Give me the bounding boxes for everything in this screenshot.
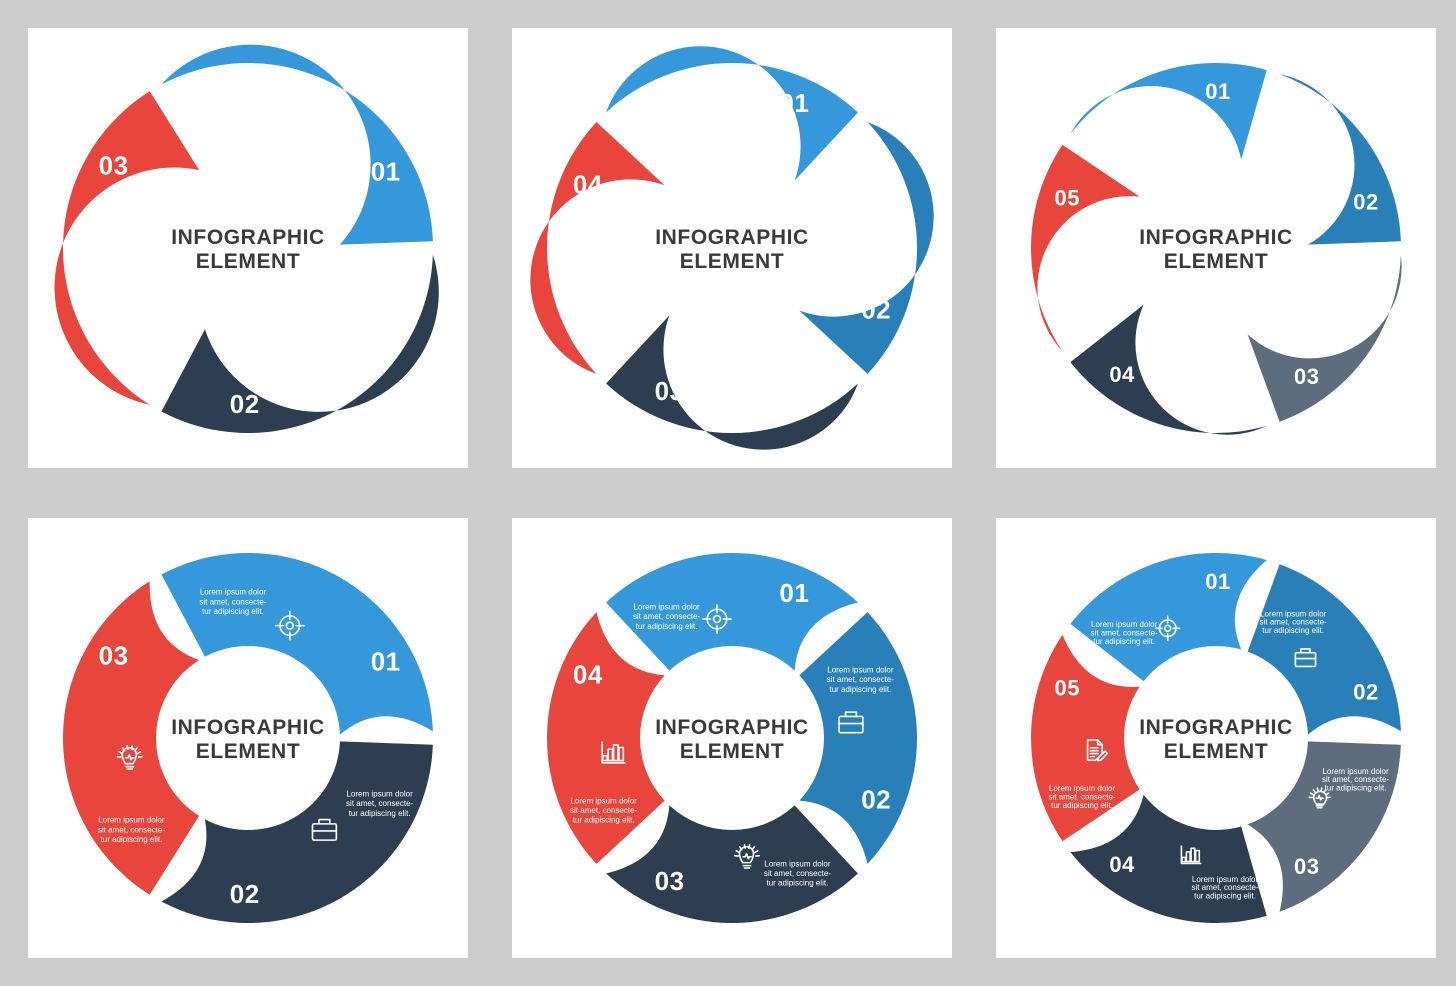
- panel-5: 01Lorem ipsum dolorsit amet, consecte-tu…: [512, 518, 952, 958]
- segment-05[interactable]: 05Lorem ipsum dolorsit amet, consecte-tu…: [1031, 635, 1140, 841]
- donut-chart-panel-6: 01Lorem ipsum dolorsit amet, consecte-tu…: [996, 518, 1436, 958]
- segment-body-text: Lorem ipsum dolorsit amet, consecte-tur …: [98, 326, 165, 354]
- segment-number: 04: [573, 170, 603, 200]
- segment-number: 03: [1294, 364, 1319, 389]
- briefcase-icon: [839, 222, 863, 243]
- segment-shape-05[interactable]: [1031, 145, 1140, 351]
- segment-number: 01: [1205, 79, 1230, 104]
- bar-chart-icon: [602, 252, 625, 273]
- segment-body-text: Lorem ipsum dolorsit amet, consecte-tur …: [346, 790, 413, 818]
- center-title-line2: ELEMENT: [1164, 740, 1269, 763]
- crosshair-icon: [1156, 126, 1180, 150]
- center-title-line2: ELEMENT: [196, 740, 301, 763]
- segment-body-text: Lorem ipsum dolorsit amet, consecte-tur …: [1260, 119, 1327, 145]
- segment-number: 02: [1353, 679, 1378, 704]
- segment-number: 02: [861, 294, 891, 324]
- segment-body-text: Lorem ipsum dolorsit amet, consecte-tur …: [633, 603, 700, 631]
- crosshair-icon: [276, 122, 304, 150]
- center-title-line2: ELEMENT: [680, 250, 785, 273]
- center-title-line1: INFOGRAPHIC: [1139, 716, 1293, 739]
- segment-number: 01: [779, 578, 809, 608]
- panel-2: 01Lorem ipsum dolorsit amet, consecte-tu…: [512, 28, 952, 468]
- center-title-line1: INFOGRAPHIC: [171, 226, 325, 249]
- segment-number: 05: [1054, 186, 1079, 211]
- segment-body-text: Lorem ipsum dolorsit amet, consecte-tur …: [199, 98, 266, 126]
- segment-body-text: Lorem ipsum dolorsit amet, consecte-tur …: [1260, 609, 1327, 635]
- segment-number: 04: [1109, 852, 1135, 877]
- crosshair-icon: [703, 115, 731, 143]
- donut-chart-panel-5: 01Lorem ipsum dolorsit amet, consecte-tu…: [512, 518, 952, 958]
- segment-number: 03: [99, 641, 129, 671]
- segment-number: 01: [779, 88, 809, 118]
- center-title-line1: INFOGRAPHIC: [171, 716, 325, 739]
- segment-body-text: Lorem ipsum dolorsit amet, consecte-tur …: [346, 300, 413, 328]
- center-title-line1: INFOGRAPHIC: [655, 716, 809, 739]
- center-title-line1: INFOGRAPHIC: [1139, 226, 1293, 249]
- segment-body-text: Lorem ipsum dolorsit amet, consecte-tur …: [570, 796, 637, 824]
- segment-body-text: Lorem ipsum dolorsit amet, consecte-tur …: [1191, 385, 1258, 411]
- segment-number: 03: [655, 866, 685, 896]
- segment-number: 04: [1109, 362, 1135, 387]
- segment-body-text: Lorem ipsum dolorsit amet, consecte-tur …: [764, 859, 831, 887]
- infographic-grid: 01Lorem ipsum dolorsit amet, consecte-tu…: [0, 0, 1456, 986]
- document-edit-icon: [1088, 250, 1108, 271]
- panel-6: 01Lorem ipsum dolorsit amet, consecte-tu…: [996, 518, 1436, 958]
- lightbulb-pulse-icon: [117, 256, 142, 279]
- segment-body-text: Lorem ipsum dolorsit amet, consecte-tur …: [1048, 784, 1115, 810]
- segment-body-text: Lorem ipsum dolorsit amet, consecte-tur …: [764, 369, 831, 397]
- donut-chart-panel-3: 01Lorem ipsum dolorsit amet, consecte-tu…: [996, 28, 1436, 468]
- segment-number: 03: [1294, 854, 1319, 879]
- briefcase-icon: [1295, 159, 1315, 176]
- segment-number: 03: [655, 376, 685, 406]
- bar-chart-icon: [1181, 356, 1200, 373]
- donut-chart-panel-2: 01Lorem ipsum dolorsit amet, consecte-tu…: [512, 28, 952, 468]
- segment-body-text: Lorem ipsum dolorsit amet, consecte-tur …: [1191, 875, 1258, 901]
- segment-number: 01: [371, 646, 401, 676]
- center-title-line2: ELEMENT: [1164, 250, 1269, 273]
- segment-number: 01: [371, 156, 401, 186]
- lightbulb-pulse-icon: [735, 355, 760, 378]
- segment-number: 01: [1205, 569, 1230, 594]
- segment-number: 02: [230, 879, 260, 909]
- panel-1: 01Lorem ipsum dolorsit amet, consecte-tu…: [28, 28, 468, 468]
- center-title-line2: ELEMENT: [680, 740, 785, 763]
- segment-05[interactable]: 05Lorem ipsum dolorsit amet, consecte-tu…: [1031, 145, 1140, 351]
- segment-number: 02: [230, 389, 260, 419]
- segment-01[interactable]: 01Lorem ipsum dolorsit amet, consecte-tu…: [1070, 63, 1266, 160]
- segment-body-text: Lorem ipsum dolorsit amet, consecte-tur …: [1322, 767, 1389, 793]
- segment-number: 03: [99, 151, 129, 181]
- center-title-line1: INFOGRAPHIC: [655, 226, 809, 249]
- segment-number: 02: [1353, 189, 1378, 214]
- donut-chart-panel-1: 01Lorem ipsum dolorsit amet, consecte-tu…: [28, 28, 468, 468]
- segment-number: 05: [1054, 676, 1079, 701]
- donut-chart-panel-4: 01Lorem ipsum dolorsit amet, consecte-tu…: [28, 518, 468, 958]
- segment-body-text: Lorem ipsum dolorsit amet, consecte-tur …: [1048, 294, 1115, 320]
- panel-3: 01Lorem ipsum dolorsit amet, consecte-tu…: [996, 28, 1436, 468]
- segment-body-text: Lorem ipsum dolorsit amet, consecte-tur …: [570, 306, 637, 334]
- segment-number: 04: [573, 660, 603, 690]
- segment-body-text: Lorem ipsum dolorsit amet, consecte-tur …: [1091, 130, 1158, 156]
- segment-body-text: Lorem ipsum dolorsit amet, consecte-tur …: [1322, 277, 1389, 303]
- segment-body-text: Lorem ipsum dolorsit amet, consecte-tur …: [827, 176, 894, 204]
- panel-4: 01Lorem ipsum dolorsit amet, consecte-tu…: [28, 518, 468, 958]
- segment-body-text: Lorem ipsum dolorsit amet, consecte-tur …: [98, 816, 165, 844]
- segment-body-text: Lorem ipsum dolorsit amet, consecte-tur …: [633, 113, 700, 141]
- segment-body-text: Lorem ipsum dolorsit amet, consecte-tur …: [199, 588, 266, 616]
- segment-body-text: Lorem ipsum dolorsit amet, consecte-tur …: [827, 666, 894, 694]
- center-title-line2: ELEMENT: [196, 250, 301, 273]
- briefcase-icon: [313, 330, 337, 351]
- segment-number: 02: [861, 784, 891, 814]
- segment-shape-05[interactable]: [1031, 635, 1140, 841]
- segment-body-text: Lorem ipsum dolorsit amet, consecte-tur …: [1091, 620, 1158, 646]
